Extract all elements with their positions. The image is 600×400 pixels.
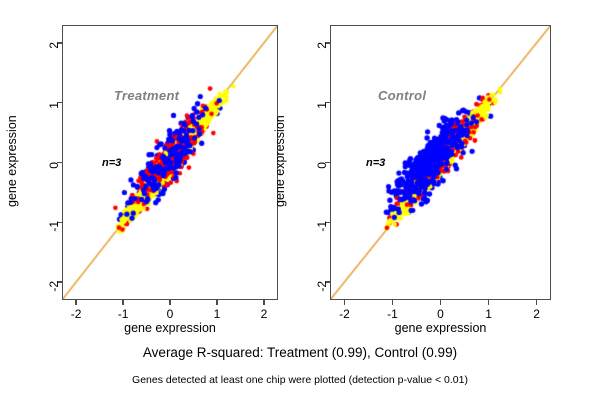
scatter-canvas-control — [330, 25, 551, 300]
x-tick-control-2 — [440, 300, 441, 305]
panel-title-control: Control — [378, 88, 426, 103]
sample-size-annotation-control: n=3 — [366, 157, 385, 169]
plot-panel-control: Control n=3 — [330, 25, 551, 300]
scatter-figure: Treatment n=3 Control n=3 -2-1012-2-1012… — [0, 0, 600, 400]
x-tick-treatment-3 — [216, 300, 217, 305]
x-tick-treatment-1 — [122, 300, 123, 305]
caption-detection-note: Genes detected at least one chip were pl… — [0, 374, 600, 386]
caption-average-r-squared: Average R-squared: Treatment (0.99), Con… — [0, 345, 600, 360]
x-tick-treatment-0 — [75, 300, 76, 305]
x-tick-treatment-2 — [169, 300, 170, 305]
x-tick-label-treatment-0: -2 — [71, 307, 82, 321]
y-tick-label-control-3: 1 — [315, 102, 329, 118]
x-tick-control-0 — [344, 300, 345, 305]
x-tick-label-control-4: 2 — [533, 307, 540, 321]
y-tick-label-treatment-0: -2 — [47, 281, 61, 297]
x-tick-label-treatment-4: 2 — [261, 307, 268, 321]
x-tick-label-control-2: 0 — [437, 307, 444, 321]
x-tick-label-control-3: 1 — [485, 307, 492, 321]
x-tick-label-treatment-3: 1 — [214, 307, 221, 321]
x-tick-label-control-0: -2 — [339, 307, 350, 321]
sample-size-annotation-treatment: n=3 — [102, 157, 121, 169]
plot-panel-treatment: Treatment n=3 — [62, 25, 278, 300]
y-tick-label-treatment-1: -1 — [47, 221, 61, 237]
y-tick-label-treatment-4: 2 — [47, 42, 61, 58]
y-tick-label-control-1: -1 — [315, 221, 329, 237]
x-tick-control-3 — [488, 300, 489, 305]
x-tick-label-treatment-1: -1 — [118, 307, 129, 321]
x-tick-control-4 — [536, 300, 537, 305]
x-tick-label-control-1: -1 — [387, 307, 398, 321]
y-axis-title-control: gene expression — [273, 117, 287, 207]
y-tick-label-control-2: 0 — [315, 162, 329, 178]
y-axis-title-treatment: gene expression — [5, 117, 19, 207]
x-axis-title-treatment: gene expression — [124, 321, 216, 335]
y-tick-label-control-4: 2 — [315, 42, 329, 58]
x-tick-control-1 — [392, 300, 393, 305]
y-tick-label-treatment-3: 1 — [47, 102, 61, 118]
x-tick-label-treatment-2: 0 — [167, 307, 174, 321]
y-tick-label-control-0: -2 — [315, 281, 329, 297]
x-axis-title-control: gene expression — [395, 321, 487, 335]
x-tick-treatment-4 — [263, 300, 264, 305]
scatter-canvas-treatment — [62, 25, 278, 300]
y-tick-label-treatment-2: 0 — [47, 162, 61, 178]
panel-title-treatment: Treatment — [114, 88, 179, 103]
